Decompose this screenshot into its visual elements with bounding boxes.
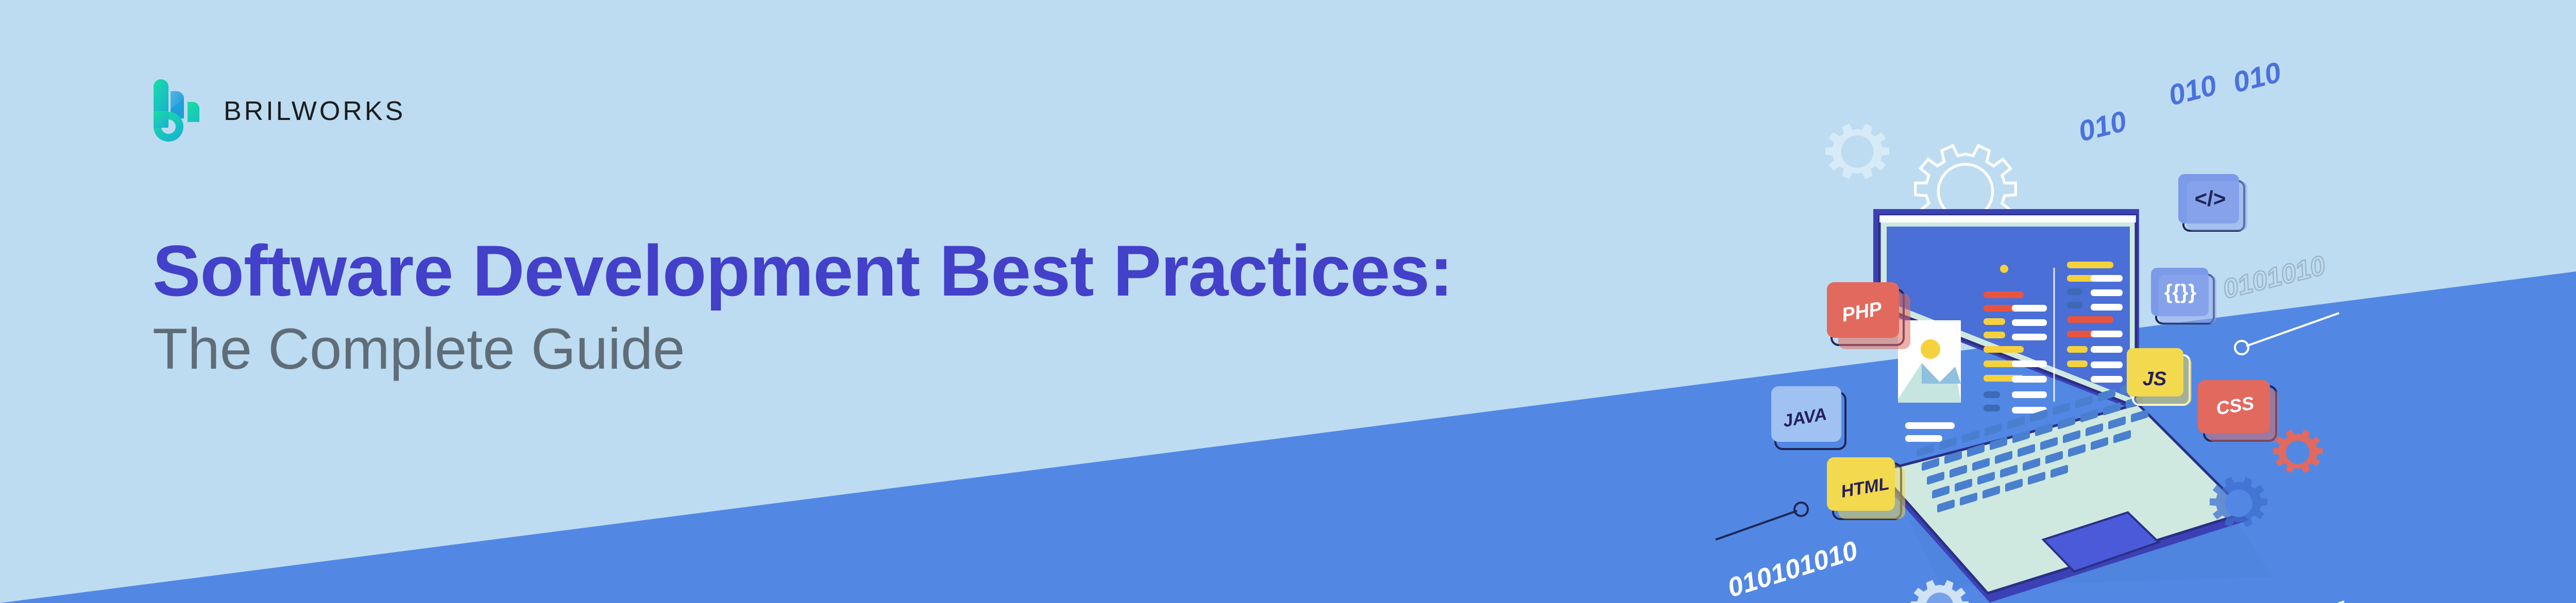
tech-badge-js[interactable]: JS: [2127, 348, 2192, 405]
page-subtitle: The Complete Guide: [152, 318, 1453, 381]
webcam-icon: [2000, 265, 2008, 273]
binary-label-010-b: 010: [2165, 68, 2220, 112]
hero-banner: BRILWORKS Software Development Best Prac…: [0, 0, 2576, 603]
connector-line-right-top: [2235, 313, 2339, 354]
binary-label-010-c: 010: [2230, 56, 2284, 99]
tech-badge-code-tag-label: </>: [2195, 186, 2226, 211]
tech-badge-braces[interactable]: {{}}: [2151, 268, 2216, 323]
tech-badge-html[interactable]: HTML: [1827, 457, 1905, 519]
tech-badge-java[interactable]: JAVA: [1771, 386, 1845, 449]
hero-text-block: Software Development Best Practices: The…: [152, 233, 1453, 381]
gear-red-large-icon: [2273, 429, 2323, 473]
tech-badge-code-tag[interactable]: </>: [2178, 174, 2247, 231]
connector-line-left-a: [1716, 503, 1808, 540]
page-title: Software Development Best Practices:: [152, 233, 1453, 309]
tech-badge-js-label: JS: [2143, 368, 2166, 390]
tech-badge-braces-label: {{}}: [2164, 281, 2196, 303]
tech-badge-php[interactable]: PHP: [1827, 282, 1910, 349]
gear-filled-pale-icon: [1825, 124, 1889, 179]
binary-label-010-a: 010: [2075, 105, 2130, 148]
binary-label-010101010-white: 010101010: [1724, 536, 1861, 603]
brilworks-b-mark-icon: [148, 77, 209, 145]
brilworks-wordmark: BRILWORKS: [224, 98, 405, 125]
binary-label-0101010-outline-gray: 0101010: [2220, 250, 2329, 304]
tech-badge-css[interactable]: CSS: [2198, 380, 2278, 442]
laptop-screen: [1873, 209, 2139, 442]
hero-illustration: 010 010 010 0101010: [1674, 0, 2396, 603]
brand-logo[interactable]: BRILWORKS: [148, 77, 405, 145]
